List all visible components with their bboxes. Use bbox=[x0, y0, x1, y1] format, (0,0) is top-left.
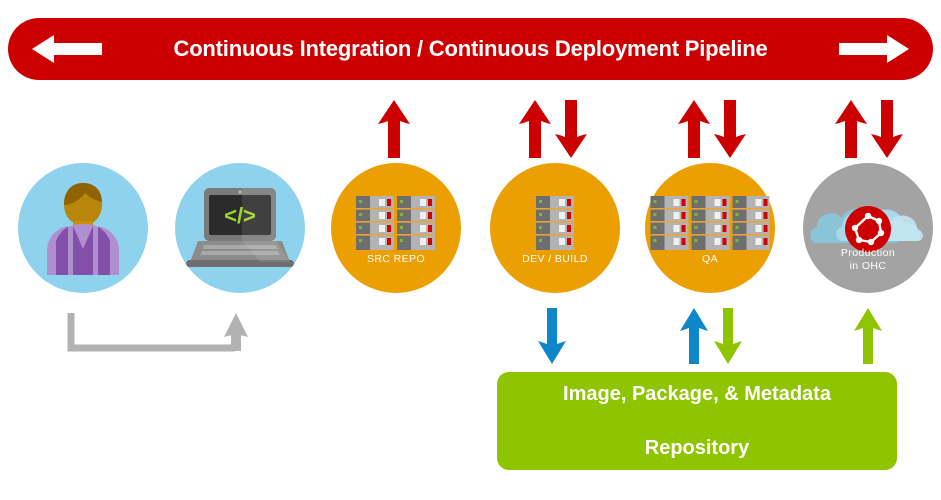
node-label-dev-build: DEV / BUILD bbox=[490, 253, 620, 266]
person-icon bbox=[37, 181, 129, 276]
arrow-left-icon bbox=[32, 34, 102, 64]
node-workstation[interactable]: </> bbox=[175, 163, 305, 293]
repository-box[interactable]: Image, Package, & Metadata Repository bbox=[497, 372, 897, 470]
node-label-production-line2: in OHC bbox=[803, 260, 933, 273]
cicd-pipeline-diagram: Continuous Integration / Continuous Depl… bbox=[0, 0, 941, 500]
arrow-down-icon-production bbox=[868, 100, 906, 158]
node-label-qa: QA bbox=[645, 253, 775, 266]
node-label-src-repo: SRC REPO bbox=[331, 253, 461, 266]
node-production[interactable]: Production in OHC bbox=[803, 163, 933, 293]
arrow-up-icon-qa bbox=[675, 100, 713, 158]
node-src-repo[interactable]: SRC REPO bbox=[331, 163, 461, 293]
server-rack-icon-qa bbox=[651, 196, 770, 250]
node-developer[interactable] bbox=[18, 163, 148, 293]
node-label-production: Production in OHC bbox=[803, 247, 933, 273]
node-label-production-line1: Production bbox=[803, 247, 933, 260]
repository-label-line1: Image, Package, & Metadata bbox=[563, 381, 831, 408]
laptop-code-icon: </> bbox=[186, 188, 294, 268]
arrow-down-icon-dev-build bbox=[552, 100, 590, 158]
arrow-up-icon-production-repo bbox=[852, 308, 884, 364]
arrow-right-icon bbox=[839, 34, 909, 64]
arrow-up-icon-src-repo bbox=[375, 100, 413, 158]
developer-to-workstation-connector bbox=[60, 305, 260, 365]
server-rack-icon-src-repo bbox=[356, 196, 436, 250]
repository-label-line2: Repository bbox=[563, 435, 831, 462]
arrow-up-icon-dev-build bbox=[516, 100, 554, 158]
node-qa[interactable]: QA bbox=[645, 163, 775, 293]
arrow-down-icon-qa bbox=[711, 100, 749, 158]
arrow-up-icon-production bbox=[832, 100, 870, 158]
repository-label: Image, Package, & Metadata Repository bbox=[563, 354, 831, 489]
server-rack-icon-dev-build bbox=[536, 196, 574, 250]
node-dev-build[interactable]: DEV / BUILD bbox=[490, 163, 620, 293]
pipeline-bar: Continuous Integration / Continuous Depl… bbox=[8, 18, 933, 80]
page-title: Continuous Integration / Continuous Depl… bbox=[128, 18, 813, 80]
